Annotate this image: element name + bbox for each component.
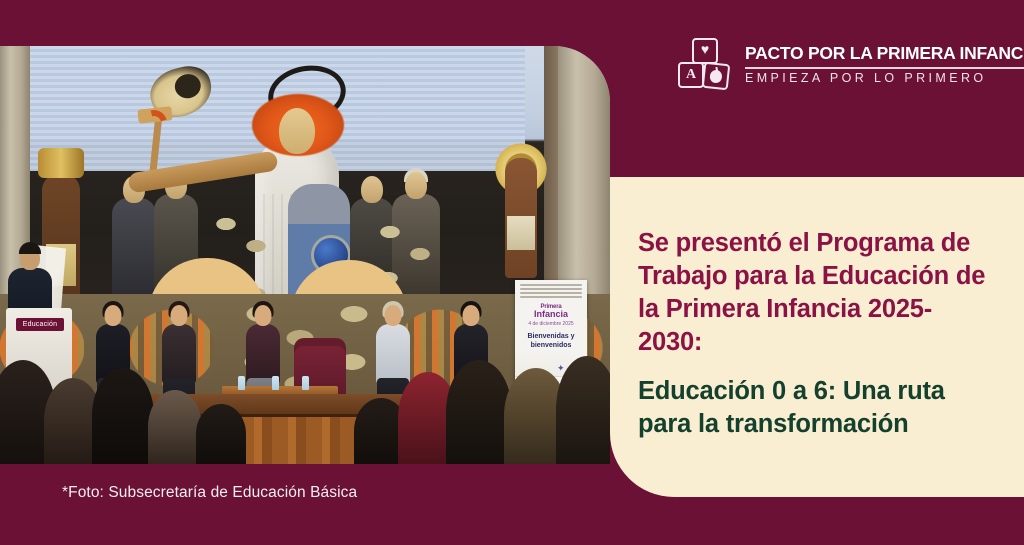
event-photo: Primera Infancia 4 de diciembre 2025 Bie… xyxy=(0,46,610,464)
heart-icon: ♥ xyxy=(692,38,718,64)
audience-member xyxy=(92,368,154,464)
logo-blocks: ♥ A xyxy=(676,38,732,90)
mural-figure-head xyxy=(361,176,383,203)
headline-primary: Se presentó el Programa de Trabajo para … xyxy=(638,227,990,360)
panelist-head xyxy=(255,305,272,326)
logo-wordmark: PACTO POR LA PRIMERA INFANCIA® EMPIEZA P… xyxy=(745,43,1024,84)
banner-title-big: Infancia xyxy=(515,310,587,319)
photo-credit-caption: *Foto: Subsecretaría de Educación Básica xyxy=(62,484,357,502)
logo-title: PACTO POR LA PRIMERA INFANCIA® xyxy=(745,43,1024,64)
logo-divider xyxy=(745,67,1024,68)
logo-title-text: PACTO POR LA PRIMERA INFANCIA xyxy=(745,43,1024,63)
logo-tagline: EMPIEZA POR LO PRIMERO xyxy=(745,71,1024,85)
apple-glyph xyxy=(709,69,722,83)
banner-date: 4 de diciembre 2025 xyxy=(515,321,587,327)
audience-member xyxy=(148,390,202,464)
poster-canvas: Primera Infancia 4 de diciembre 2025 Bie… xyxy=(0,0,1024,545)
banner-top-text xyxy=(515,280,587,304)
panelist-head xyxy=(105,305,122,326)
heart-glyph: ♥ xyxy=(701,44,709,58)
audience-member xyxy=(556,356,610,464)
headline-panel: Se presentó el Programa de Trabajo para … xyxy=(610,177,1024,497)
panelist-head xyxy=(171,305,188,326)
mural-figure-head xyxy=(405,172,427,199)
podium-label: Educación xyxy=(16,318,64,331)
letter-a-glyph: A xyxy=(686,68,696,82)
brand-logo[interactable]: ♥ A PACTO POR LA PRIMERA INFANCIA® EMPIE… xyxy=(676,38,1024,90)
audience-member xyxy=(196,404,246,464)
letter-a-icon: A xyxy=(678,62,704,88)
panelist-head xyxy=(385,305,402,326)
headline-secondary: Educación 0 a 6: Una ruta para la transf… xyxy=(638,375,994,441)
mural-goddess-head xyxy=(279,108,315,154)
mural-figure xyxy=(112,198,156,302)
audience-member xyxy=(446,360,512,464)
audience xyxy=(0,344,610,464)
photo-content: Primera Infancia 4 de diciembre 2025 Bie… xyxy=(0,46,610,464)
panelist-head xyxy=(463,305,480,326)
apple-icon xyxy=(702,62,731,91)
